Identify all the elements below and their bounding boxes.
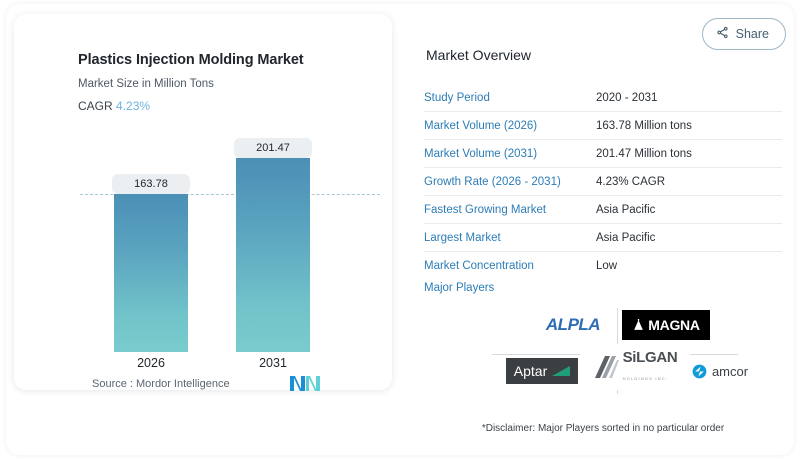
logo-alpla-label: ALPLA — [546, 315, 600, 335]
table-row: Fastest Growing Market Asia Pacific — [424, 196, 782, 224]
row-value: 4.23% CAGR — [596, 176, 665, 188]
chart-card: Plastics Injection Molding Market Market… — [14, 14, 392, 390]
logo-silgan-label: SiLGAN HOLDINGS INC. — [593, 349, 678, 385]
row-label: Market Volume (2026) — [424, 120, 596, 132]
table-row: Market Volume (2026) 163.78 Million tons — [424, 112, 782, 140]
share-button[interactable]: Share — [702, 18, 786, 50]
chart-title: Plastics Injection Molding Market — [78, 52, 304, 68]
amcor-mark-icon — [692, 364, 707, 379]
row-label: Fastest Growing Market — [424, 204, 596, 216]
aptar-swoosh-icon — [552, 366, 570, 377]
row-value: 163.78 Million tons — [596, 120, 692, 132]
logo-silgan: SiLGAN HOLDINGS INC. — [580, 344, 690, 390]
chart-cagr-value: 4.23% — [116, 99, 150, 113]
share-button-label: Share — [736, 28, 769, 41]
table-row: Study Period 2020 - 2031 — [424, 84, 782, 112]
market-overview-table: Study Period 2020 - 2031 Market Volume (… — [424, 84, 782, 279]
major-players-logo-grid: ALPLA MAGNA Aptar — [492, 304, 738, 396]
bar-chart-plot: 163.78 201.47 2026 2031 — [28, 114, 392, 352]
bar-value-label-2031: 201.47 — [234, 138, 312, 158]
major-players-label: Major Players — [424, 282, 494, 294]
chart-cagr-label: CAGR — [78, 99, 113, 113]
row-label: Market Volume (2031) — [424, 148, 596, 160]
logo-aptar: Aptar — [506, 358, 578, 384]
logo-magna: MAGNA — [622, 310, 710, 340]
logo-aptar-label: Aptar — [514, 363, 570, 379]
market-overview-title: Market Overview — [426, 47, 531, 63]
x-axis-label-2026: 2026 — [112, 356, 190, 370]
row-value: Asia Pacific — [596, 232, 655, 244]
logo-magna-label: MAGNA — [632, 317, 699, 333]
x-axis-label-2031: 2031 — [234, 356, 312, 370]
screenshot-root: Share Plastics Injection Molding Market … — [0, 0, 800, 459]
silgan-mark-icon — [593, 354, 619, 380]
row-value: Asia Pacific — [596, 204, 655, 216]
row-label: Largest Market — [424, 232, 596, 244]
disclaimer-text: *Disclaimer: Major Players sorted in no … — [424, 423, 782, 434]
bar-value-label-2026: 163.78 — [112, 174, 190, 194]
row-value: 2020 - 2031 — [596, 92, 657, 104]
share-nodes-icon — [716, 26, 729, 42]
row-value: 201.47 Million tons — [596, 148, 692, 160]
magna-mountain-icon — [632, 319, 645, 332]
table-row: Growth Rate (2026 - 2031) 4.23% CAGR — [424, 168, 782, 196]
row-label: Study Period — [424, 92, 596, 104]
row-value: Low — [596, 260, 617, 272]
chart-subtitle: Market Size in Million Tons — [78, 78, 214, 90]
logo-alpla: ALPLA — [530, 312, 616, 338]
logo-amcor: amcor — [682, 358, 758, 384]
row-label: Growth Rate (2026 - 2031) — [424, 176, 596, 188]
logo-amcor-label: amcor — [692, 364, 748, 379]
table-row: Largest Market Asia Pacific — [424, 224, 782, 252]
bar-2026[interactable] — [114, 194, 188, 352]
chart-source: Source : Mordor Intelligence — [92, 378, 230, 390]
bar-2031[interactable] — [236, 158, 310, 352]
table-row: Market Volume (2031) 201.47 Million tons — [424, 140, 782, 168]
chart-cagr: CAGR 4.23% — [78, 99, 150, 113]
mordor-intelligence-logo — [290, 375, 320, 392]
row-label: Market Concentration — [424, 260, 596, 272]
table-row: Market Concentration Low — [424, 252, 782, 279]
